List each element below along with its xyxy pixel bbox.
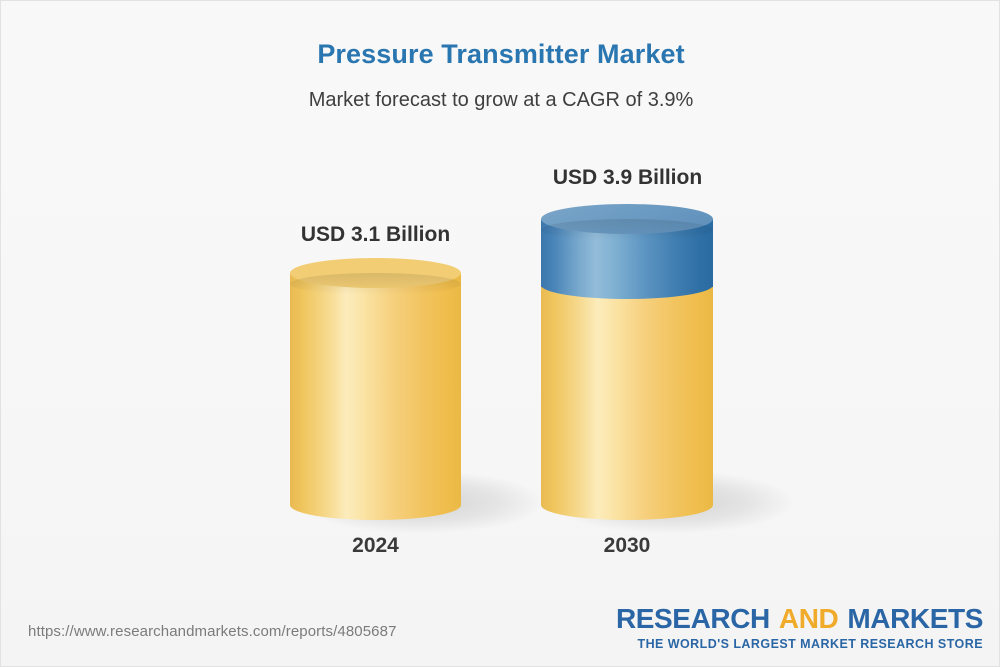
logo-tagline: THE WORLD'S LARGEST MARKET RESEARCH STOR… — [616, 637, 983, 651]
report-url-link[interactable]: https://www.researchandmarkets.com/repor… — [28, 623, 397, 640]
research-and-markets-logo[interactable]: RESEARCHANDMARKETS THE WORLD'S LARGEST M… — [616, 605, 983, 651]
logo-word-research: RESEARCH — [616, 603, 770, 634]
bar-value-label-2030: USD 3.9 Billion — [512, 166, 743, 190]
bar-bottom-cap-2024 — [290, 490, 461, 520]
plot-area: USD 3.1 Billion 2024 USD 3.9 Billion — [1, 1, 1000, 601]
footer: https://www.researchandmarkets.com/repor… — [1, 599, 1000, 666]
category-label-2030: 2030 — [541, 534, 713, 558]
logo-word-markets: MARKETS — [847, 603, 983, 634]
bar-bottom-cap-2030 — [541, 490, 713, 520]
bar-top-cap-2024 — [290, 258, 461, 288]
bar-segment-base-2030 — [541, 284, 713, 505]
bar-body-2024 — [290, 273, 461, 505]
logo-wordmark: RESEARCHANDMARKETS — [616, 605, 983, 633]
bar-segment-growth-bottom-2030 — [541, 271, 713, 299]
chart-canvas: Pressure Transmitter Market Market forec… — [0, 0, 1000, 667]
logo-word-and: AND — [779, 603, 838, 634]
bar-value-label-2024: USD 3.1 Billion — [260, 223, 491, 247]
bar-top-cap-2030 — [541, 204, 713, 234]
category-label-2024: 2024 — [290, 534, 461, 558]
